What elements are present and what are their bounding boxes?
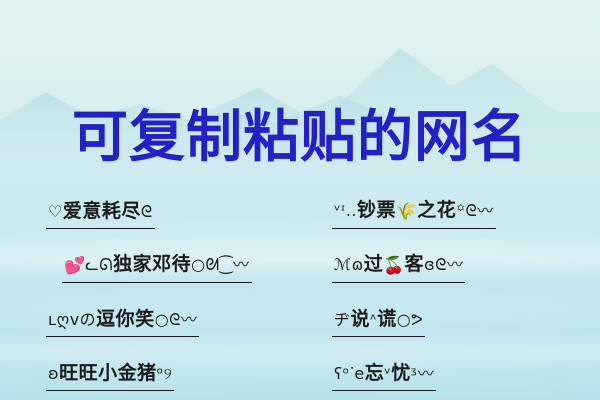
name-cell-8: ʕᵒᐝe忘ᵛ忧ᶾ〰 [300, 348, 600, 400]
nickname-8-core2: 忧 [391, 362, 411, 384]
nickname-1-core: 爱意耗尽 [63, 200, 141, 222]
name-cell-1: ♡爱意耗尽ᘓ [0, 186, 300, 240]
name-cell-7: ヂ说ᶺ谎○ᕗ [300, 294, 600, 348]
nickname-6-core: 过 [364, 253, 384, 275]
name-list: ♡爱意耗尽ᘓ ᵛᶦ..钞票🌾之花꙳ᘓ〰 💕ᓚᘏ独家邓待○ᘛ⁐〰 ℳɷ过🍒客ɞᘓ〰… [0, 186, 600, 400]
name-cell-4: ʚ旺旺小金猪ᵒ୨ [0, 348, 300, 400]
pink-hearts-icon: 💕 [64, 256, 85, 276]
nickname-7-core: 说 [351, 308, 371, 330]
nickname-item-1[interactable]: ♡爱意耗尽ᘓ [46, 198, 155, 229]
nickname-7-core2: 谎 [377, 308, 397, 330]
nickname-6-lead: ℳɷ [334, 255, 364, 274]
nickname-5-core2: 之花 [417, 199, 456, 221]
nickname-8-trail: ᶾ〰 [411, 364, 434, 383]
nickname-item-7[interactable]: ヂ说ᶺ谎○ᕗ [332, 306, 425, 337]
nickname-8-core: 忘 [365, 362, 385, 384]
name-cell-5: ᵛᶦ..钞票🌾之花꙳ᘓ〰 [300, 186, 600, 240]
nickname-3-lead: ʟღvの [48, 310, 96, 329]
nickname-6-core2: 客 [404, 253, 424, 275]
wheat-icon: 🌾 [396, 202, 417, 222]
page-title: 可复制粘贴的网名 [0, 106, 600, 170]
nickname-item-8[interactable]: ʕᵒᐝe忘ᵛ忧ᶾ〰 [332, 360, 436, 391]
nickname-7-trail: ○ᕗ [397, 310, 424, 329]
nickname-8-lead: ʕᵒᐝe [334, 364, 365, 383]
name-cell-6: ℳɷ过🍒客ɞᘓ〰 [300, 240, 600, 294]
nickname-2-trail: ○ᘛ⁐〰 [191, 255, 249, 274]
nickname-5-trail: ꙳ᘓ〰 [456, 201, 494, 220]
nickname-4-trail: ᵒ୨ [157, 364, 173, 383]
nickname-7-lead: ヂ [334, 310, 351, 329]
nickname-4-lead: ʚ [48, 364, 59, 383]
nickname-2-lead: ᓚᘏ [85, 255, 113, 274]
cherries-icon: 🍒 [383, 256, 404, 276]
nickname-3-core: 逗你笑 [96, 308, 155, 330]
nickname-3-trail: ○ᘓ〰 [155, 310, 198, 329]
nickname-5-lead: ᵛᶦ.. [334, 201, 357, 220]
nickname-item-5[interactable]: ᵛᶦ..钞票🌾之花꙳ᘓ〰 [332, 197, 496, 229]
name-cell-2: 💕ᓚᘏ独家邓待○ᘛ⁐〰 [0, 240, 300, 294]
poster-canvas: 可复制粘贴的网名 ♡爱意耗尽ᘓ ᵛᶦ..钞票🌾之花꙳ᘓ〰 💕ᓚᘏ独家邓待○ᘛ⁐〰… [0, 0, 600, 400]
nickname-1-trail: ᘓ [141, 202, 153, 221]
nickname-4-core: 旺旺小金猪 [59, 362, 157, 384]
nickname-item-4[interactable]: ʚ旺旺小金猪ᵒ୨ [46, 360, 174, 391]
nickname-5-core: 钞票 [357, 199, 396, 221]
nickname-2-core: 独家邓待 [113, 253, 191, 275]
nickname-item-6[interactable]: ℳɷ过🍒客ɞᘓ〰 [332, 251, 465, 283]
name-cell-3: ʟღvの逗你笑○ᘓ〰 [0, 294, 300, 348]
nickname-item-3[interactable]: ʟღvの逗你笑○ᘓ〰 [46, 306, 199, 337]
nickname-6-trail: ɞᘓ〰 [424, 255, 463, 274]
nickname-item-2[interactable]: 💕ᓚᘏ独家邓待○ᘛ⁐〰 [62, 251, 252, 283]
nickname-1-lead: ♡ [48, 202, 63, 221]
